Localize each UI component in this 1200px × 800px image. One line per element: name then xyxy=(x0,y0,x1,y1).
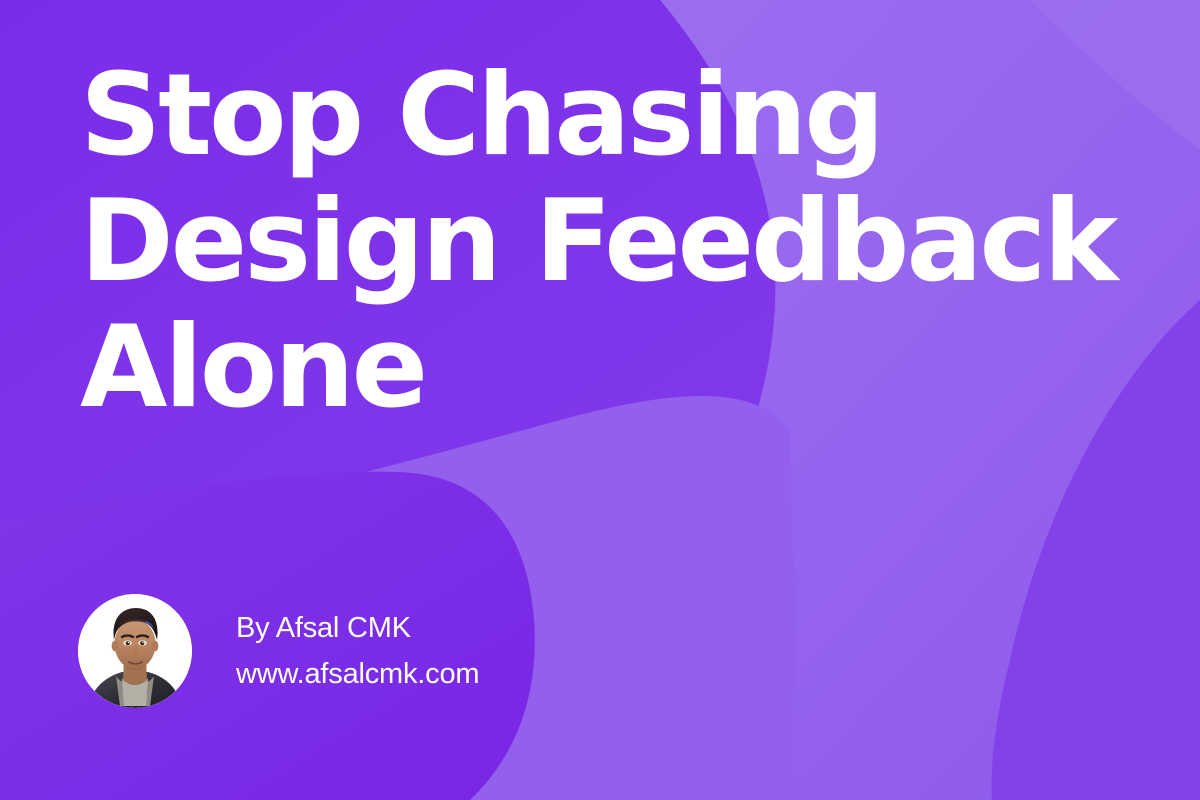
byline-text-block: By Afsal CMK www.afsalcmk.com xyxy=(236,612,479,690)
banner-headline: Stop Chasing Design Feedback Alone xyxy=(80,52,1140,430)
avatar xyxy=(78,594,192,708)
social-banner: Stop Chasing Design Feedback Alone xyxy=(0,0,1200,800)
author-website[interactable]: www.afsalcmk.com xyxy=(236,658,479,690)
author-name: By Afsal CMK xyxy=(236,612,479,644)
author-byline: By Afsal CMK www.afsalcmk.com xyxy=(78,594,479,708)
avatar-photo-icon xyxy=(78,594,192,708)
